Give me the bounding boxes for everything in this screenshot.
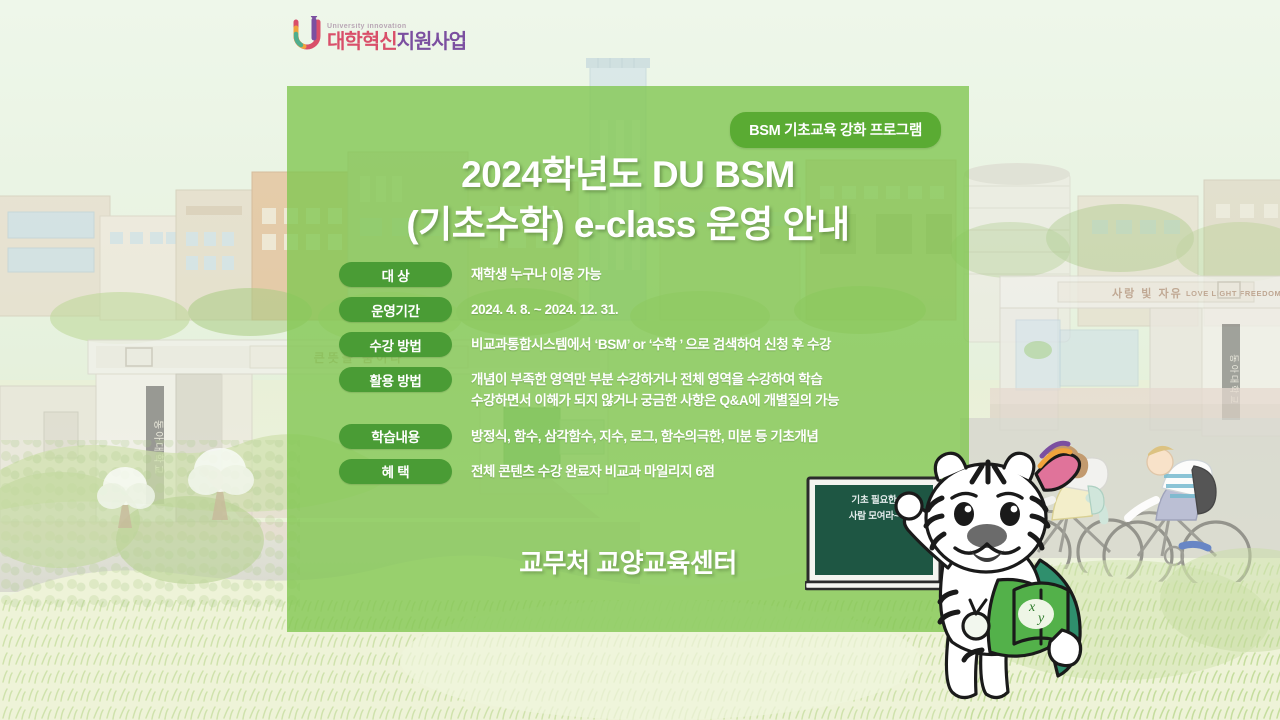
tiger-mascot: x y — [890, 440, 1120, 710]
logo-title-part-a: 대학혁신 — [327, 31, 397, 53]
info-row: 학습내용 방정식, 함수, 삼각함수, 지수, 로그, 함수의극한, 미분 등 … — [339, 424, 949, 449]
info-value: 재학생 누구나 이용 가능 — [471, 262, 601, 286]
university-innovation-logo: University innovation 대학혁신지원사업 — [292, 16, 466, 52]
program-badge: BSM 기초교육 강화 프로그램 — [730, 112, 941, 148]
book-label-y: y — [1036, 611, 1045, 626]
info-rows: 대 상 재학생 누구나 이용 가능 운영기간 2024. 4. 8. ~ 202… — [339, 262, 949, 494]
info-value: 전체 콘텐츠 수강 완료자 비교과 마일리지 6점 — [471, 459, 715, 483]
poster-title-line-1: 2024학년도 DU BSM — [287, 150, 969, 200]
info-label: 학습내용 — [339, 424, 452, 449]
info-label: 운영기간 — [339, 297, 452, 322]
logo-subtitle: University innovation — [327, 23, 466, 30]
poster-stage: 큰뜻을 품어라 동아대학교 사랑 빛 자유 LOVE LIGHT FREEDOM — [0, 0, 1280, 720]
info-value-line: 비교과통합시스템에서 ‘BSM’ or ‘수학 ’ 으로 검색하여 신청 후 수… — [471, 335, 831, 356]
book-label-x: x — [1028, 600, 1036, 615]
info-value-line: 재학생 누구나 이용 가능 — [471, 265, 601, 286]
poster-title: 2024학년도 DU BSM (기초수학) e-class 운영 안내 — [287, 150, 969, 251]
info-value-line: 전체 콘텐츠 수강 완료자 비교과 마일리지 6점 — [471, 462, 715, 483]
logo-title: 대학혁신지원사업 — [327, 32, 466, 52]
u-logo-mark-icon — [292, 16, 322, 52]
logo-title-part-b: 지원사업 — [397, 31, 467, 53]
info-row: 수강 방법 비교과통합시스템에서 ‘BSM’ or ‘수학 ’ 으로 검색하여 … — [339, 332, 949, 357]
poster-title-line-2: (기초수학) e-class 운영 안내 — [287, 200, 969, 250]
info-value-line: 개념이 부족한 영역만 부분 수강하거나 전체 영역을 수강하여 학습 — [471, 370, 839, 391]
info-label: 활용 방법 — [339, 367, 452, 392]
info-row: 운영기간 2024. 4. 8. ~ 2024. 12. 31. — [339, 297, 949, 322]
svg-text:LOVE LIGHT FREEDOM: LOVE LIGHT FREEDOM — [1186, 289, 1280, 298]
info-value: 개념이 부족한 영역만 부분 수강하거나 전체 영역을 수강하여 학습 수강하면… — [471, 367, 839, 412]
info-value: 2024. 4. 8. ~ 2024. 12. 31. — [471, 297, 618, 321]
info-row: 활용 방법 개념이 부족한 영역만 부분 수강하거나 전체 영역을 수강하여 학… — [339, 367, 949, 412]
info-value: 방정식, 함수, 삼각함수, 지수, 로그, 함수의극한, 미분 등 기초개념 — [471, 424, 818, 448]
info-row: 대 상 재학생 누구나 이용 가능 — [339, 262, 949, 287]
info-label: 수강 방법 — [339, 332, 452, 357]
info-value-line: 수강하면서 이해가 되지 않거나 궁금한 사항은 Q&A에 개별질의 가능 — [471, 391, 839, 412]
info-label: 혜 택 — [339, 459, 452, 484]
info-value: 비교과통합시스템에서 ‘BSM’ or ‘수학 ’ 으로 검색하여 신청 후 수… — [471, 332, 831, 356]
info-value-line: 방정식, 함수, 삼각함수, 지수, 로그, 함수의극한, 미분 등 기초개념 — [471, 427, 818, 448]
svg-text:사랑 빛 자유: 사랑 빛 자유 — [1112, 286, 1183, 300]
info-label: 대 상 — [339, 262, 452, 287]
info-value-line: 2024. 4. 8. ~ 2024. 12. 31. — [471, 300, 618, 321]
